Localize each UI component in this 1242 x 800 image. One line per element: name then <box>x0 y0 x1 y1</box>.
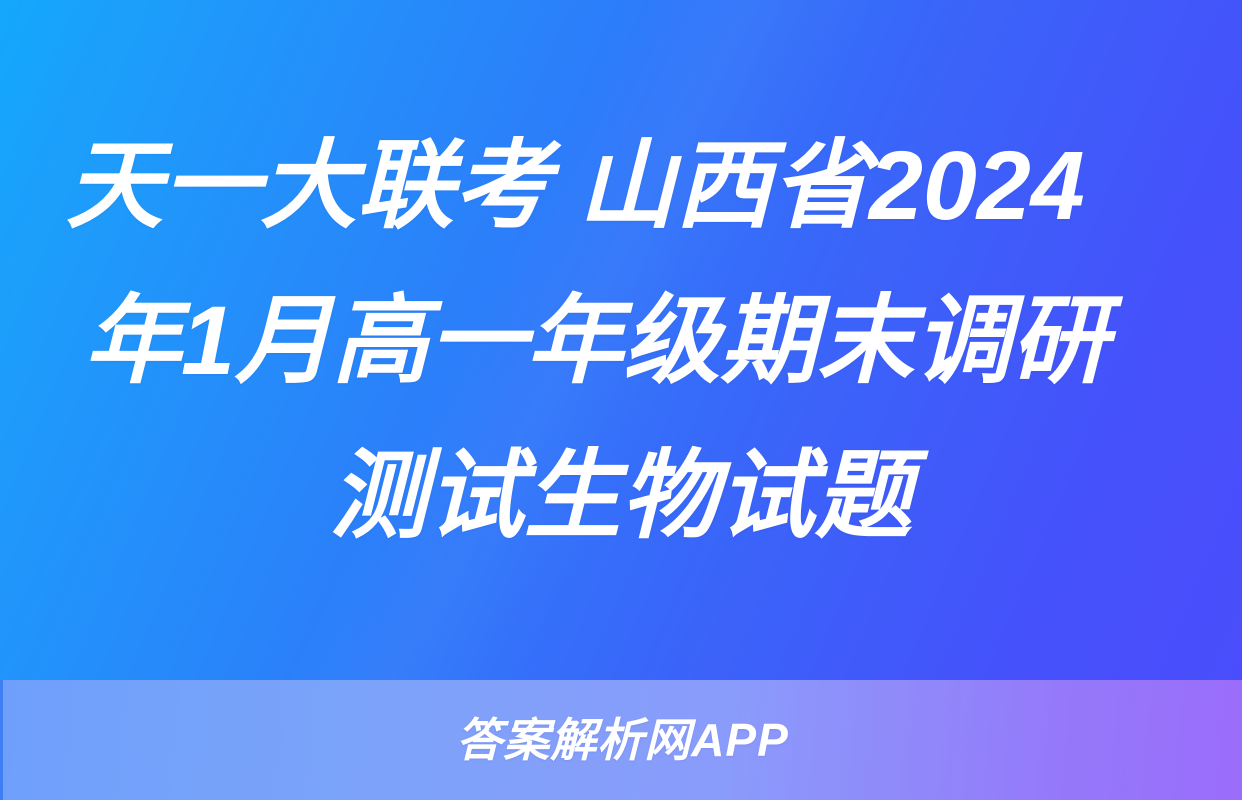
page-title-line-3: 测试生物试题 <box>66 418 1176 573</box>
page-title-line-1: 天一大联考 山西省2024 <box>66 108 1176 263</box>
page-title: 天一大联考 山西省2024 年1月高一年级期末调研 测试生物试题 <box>66 108 1176 573</box>
title-hero-banner: 天一大联考 山西省2024 年1月高一年级期末调研 测试生物试题 <box>0 0 1242 680</box>
exam-cover-poster: 天一大联考 山西省2024 年1月高一年级期末调研 测试生物试题 答案解析网AP… <box>0 0 1242 800</box>
watermark-band: 答案解析网APP <box>0 680 1242 800</box>
watermark-label: 答案解析网APP <box>456 717 789 763</box>
page-title-line-2: 年1月高一年级期末调研 <box>66 263 1176 418</box>
